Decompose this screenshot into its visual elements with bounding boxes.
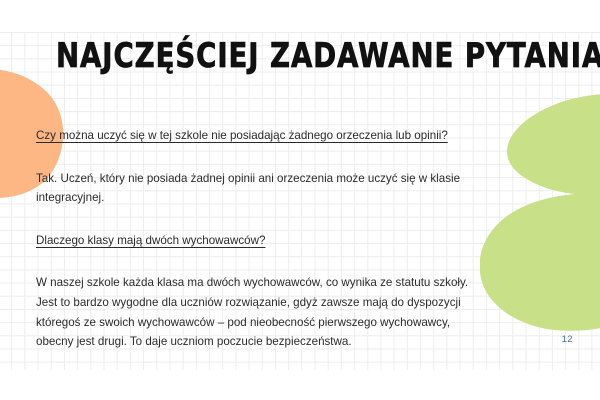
page-title: NAJCZĘŚCIEJ ZADAWANE PYTANIA [56, 38, 600, 76]
faq-question: Czy można uczyć się w tej szkole nie pos… [36, 126, 488, 146]
faq-question: Dlaczego klasy mają dwóch wychowawców? [36, 231, 488, 251]
slide-canvas: NAJCZĘŚCIEJ ZADAWANE PYTANIA Czy można u… [0, 0, 600, 400]
spacer [36, 146, 488, 169]
faq-item: Dlaczego klasy mają dwóch wychowawców? W… [36, 231, 488, 352]
faq-content: Czy można uczyć się w tej szkole nie pos… [36, 126, 488, 352]
faq-answer: W naszej szkole każda klasa ma dwóch wyc… [36, 273, 488, 351]
page-number: 12 [562, 334, 573, 345]
spacer [36, 208, 488, 231]
faq-item: Czy można uczyć się w tej szkole nie pos… [36, 126, 488, 208]
spacer [36, 250, 488, 273]
faq-answer: Tak. Uczeń, który nie posiada żadnej opi… [36, 169, 488, 208]
